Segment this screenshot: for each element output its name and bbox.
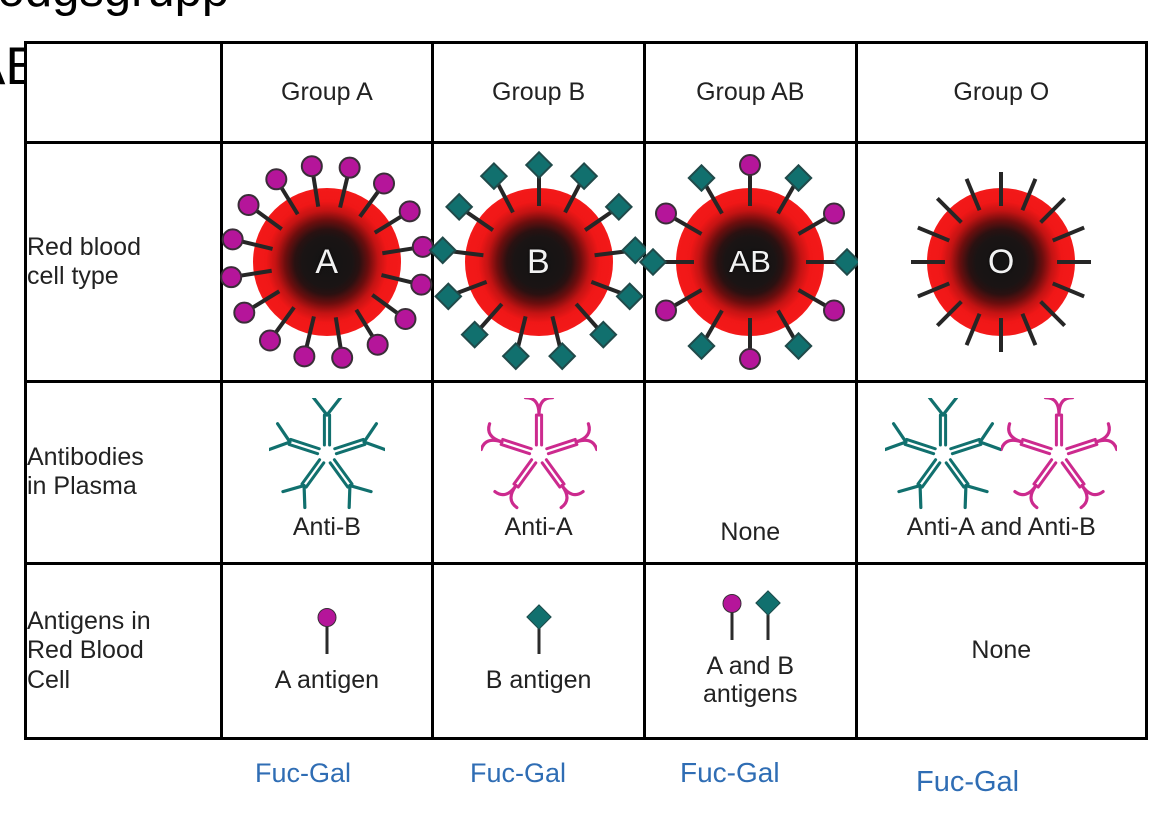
- antibody-cluster-anti-a: [481, 395, 597, 513]
- a-antigen-icon: [317, 608, 336, 627]
- column-header-group-b: Group B: [433, 43, 645, 143]
- row-header-line1: Red blood: [27, 233, 220, 263]
- a-antigen-icon: [723, 594, 742, 613]
- row-header-red-blood-cell-type: Red blood cell type: [26, 143, 222, 382]
- antigen-pin-a: [314, 608, 340, 664]
- page-title-clipped: Blodgsgrupp: [0, 0, 229, 15]
- antibody-caption-group-a: Anti-B: [293, 515, 361, 540]
- antibody-caption-group-ab: None: [720, 520, 780, 545]
- annotation-fuc-gal-group-ab: Fuc-Gal: [680, 757, 780, 789]
- antigen-pins-ab: [719, 594, 781, 650]
- antigen-pin-b: [526, 608, 552, 664]
- rbc-label-b: B: [465, 188, 613, 336]
- annotation-fuc-gal-group-o: Fuc-Gal: [916, 766, 1019, 799]
- rbc-label-o: O: [927, 188, 1075, 336]
- b-antigen-icon: [756, 590, 781, 615]
- row-header-antibodies-in-plasma: Antibodies in Plasma: [26, 382, 222, 564]
- cell-rbc-group-o: O: [856, 143, 1146, 382]
- antibody-cluster-anti-b: [269, 395, 385, 513]
- rbc-illustration-b: B: [434, 150, 643, 375]
- cell-rbc-group-b: B: [433, 143, 645, 382]
- antigen-caption-group-b: B antigen: [486, 666, 592, 694]
- cell-antibodies-group-ab: None: [644, 382, 856, 564]
- antigen-caption-line1: A antigen: [275, 666, 379, 694]
- column-header-group-o: Group O: [856, 43, 1146, 143]
- annotation-fuc-gal-group-b: Fuc-Gal: [470, 758, 566, 789]
- table-row: Antigens in Red Blood Cell A antigen B a: [26, 563, 1147, 738]
- column-header-group-a: Group A: [221, 43, 433, 143]
- table-row: Red blood cell type A: [26, 143, 1147, 382]
- cell-antibodies-group-a: Anti-B: [221, 382, 433, 564]
- cell-rbc-group-a: A: [221, 143, 433, 382]
- antigen-caption-line1: B antigen: [486, 666, 592, 694]
- rbc-illustration-a: A: [223, 150, 432, 375]
- rbc-label-ab: AB: [676, 188, 824, 336]
- b-antigen-icon: [526, 604, 551, 629]
- row-header-line2: cell type: [27, 262, 220, 292]
- rbc-label-a: A: [253, 188, 401, 336]
- table-header-row: Group A Group B Group AB Group O: [26, 43, 1147, 143]
- cell-antibodies-group-o: Anti-A and Anti-B: [856, 382, 1146, 564]
- rbc-illustration-ab: AB: [646, 150, 855, 375]
- antigen-caption-line1: A and B: [703, 652, 798, 680]
- row-header-antigens-in-red-blood-cell: Antigens in Red Blood Cell: [26, 563, 222, 738]
- rbc-illustration-o: O: [858, 150, 1145, 375]
- cell-antigens-group-o: None: [856, 563, 1146, 738]
- row-header-line2: Red Blood: [27, 636, 220, 666]
- cell-antibodies-group-b: Anti-A: [433, 382, 645, 564]
- antigen-caption-group-a: A antigen: [275, 666, 379, 694]
- cell-antigens-group-b: B antigen: [433, 563, 645, 738]
- column-header-group-ab: Group AB: [644, 43, 856, 143]
- cell-antigens-group-a: A antigen: [221, 563, 433, 738]
- annotation-fuc-gal-group-a: Fuc-Gal: [255, 758, 351, 789]
- antibody-caption-group-b: Anti-A: [505, 515, 573, 540]
- corner-cell: [26, 43, 222, 143]
- row-header-line1: Antibodies: [27, 443, 220, 473]
- antibody-cluster-anti-a-and-anti-b: [885, 395, 1117, 513]
- row-header-line1: Antigens in: [27, 607, 220, 637]
- antigen-caption-group-ab: A and B antigens: [703, 652, 798, 708]
- row-header-line2: in Plasma: [27, 472, 220, 502]
- row-header-line3: Cell: [27, 666, 220, 696]
- antigen-caption-group-o: None: [971, 636, 1031, 665]
- antibody-caption-group-o: Anti-A and Anti-B: [907, 515, 1096, 540]
- cell-antigens-group-ab: A and B antigens: [644, 563, 856, 738]
- table-row: Antibodies in Plasma Anti-B Anti-A None: [26, 382, 1147, 564]
- blood-group-table: Group A Group B Group AB Group O Red blo…: [24, 41, 1148, 740]
- antigen-caption-line2: antigens: [703, 680, 798, 708]
- cell-rbc-group-ab: AB: [644, 143, 856, 382]
